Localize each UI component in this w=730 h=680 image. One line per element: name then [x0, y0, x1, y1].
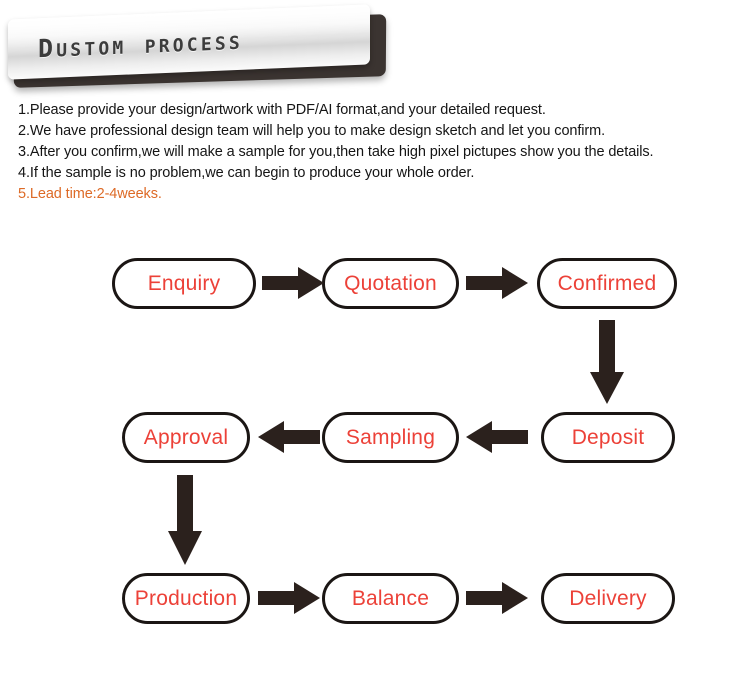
process-description-list: 1.Please provide your design/artwork wit…	[18, 100, 718, 205]
flow-node-deposit[interactable]: Deposit	[541, 412, 675, 463]
arrow-right-icon-balance-to-delivery	[466, 581, 528, 615]
arrow-left-icon-sampling-to-approval	[258, 420, 320, 454]
arrow-down-icon-confirmed-to-deposit	[589, 320, 625, 404]
flow-node-delivery[interactable]: Delivery	[541, 573, 675, 624]
flow-node-approval[interactable]: Approval	[122, 412, 250, 463]
description-line-4: 4.If the sample is no problem,we can beg…	[18, 163, 718, 184]
arrow-down-icon-approval-to-production	[167, 475, 203, 565]
process-flowchart: Enquiry Quotation Confirmed Approval Sam…	[0, 232, 730, 662]
description-line-2: 2.We have professional design team will …	[18, 121, 718, 142]
flow-node-sampling[interactable]: Sampling	[322, 412, 459, 463]
description-line-3: 3.After you confirm,we will make a sampl…	[18, 142, 718, 163]
flow-node-balance[interactable]: Balance	[322, 573, 459, 624]
flow-node-enquiry[interactable]: Enquiry	[112, 258, 256, 309]
description-line-5-lead-time: 5.Lead time:2-4weeks.	[18, 184, 718, 205]
arrow-right-icon-enquiry-to-quotation	[262, 266, 324, 300]
flow-node-quotation[interactable]: Quotation	[322, 258, 459, 309]
arrow-right-icon-quotation-to-confirmed	[466, 266, 528, 300]
flow-node-production[interactable]: Production	[122, 573, 250, 624]
page-banner: Dustom process	[0, 6, 400, 92]
arrow-right-icon-production-to-balance	[258, 581, 320, 615]
arrow-left-icon-deposit-to-sampling	[466, 420, 528, 454]
description-line-1: 1.Please provide your design/artwork wit…	[18, 100, 718, 121]
flow-node-confirmed[interactable]: Confirmed	[537, 258, 677, 309]
